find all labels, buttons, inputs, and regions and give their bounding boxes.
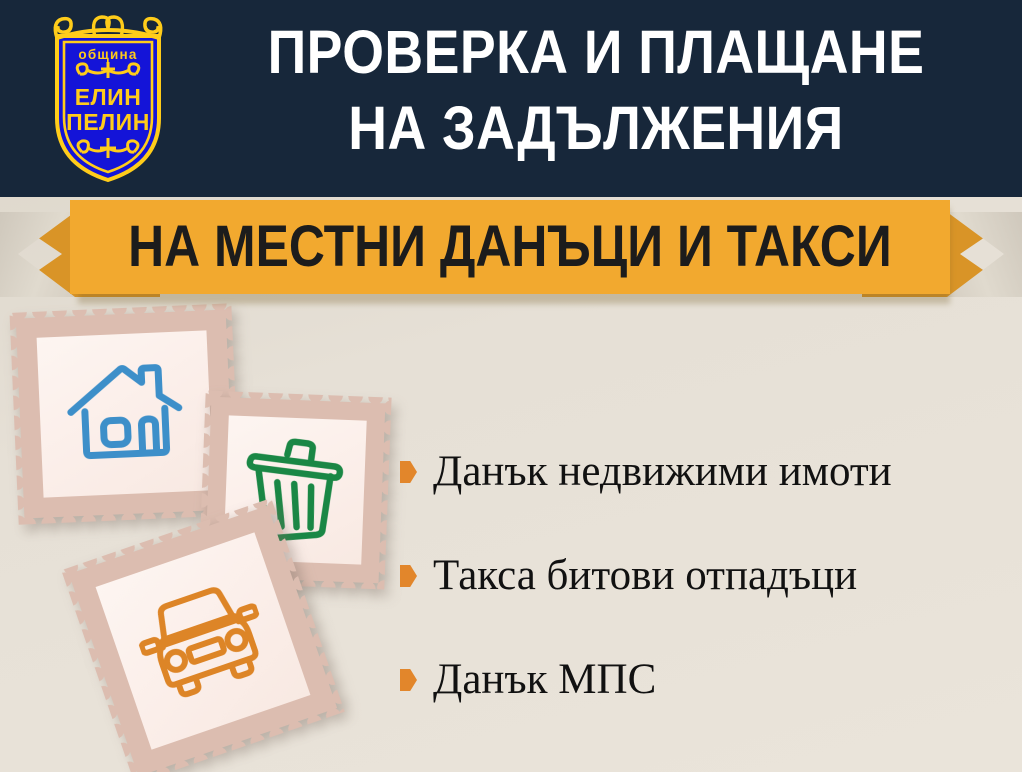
- arrow-bullet-icon: [400, 461, 417, 483]
- ribbon-banner: НА МЕСТНИ ДАНЪЦИ И ТАКСИ: [0, 196, 1022, 306]
- header-bar: община ЕЛИН ПЕЛИН: [0, 0, 1022, 197]
- list-item[interactable]: Такса битови отпадъци: [400, 524, 1020, 628]
- crest-svg: община ЕЛИН ПЕЛИН: [40, 12, 176, 184]
- poster-canvas: община ЕЛИН ПЕЛИН: [0, 0, 1022, 772]
- crest-label-line2: ПЕЛИН: [66, 109, 150, 135]
- house-icon: [37, 330, 214, 497]
- list-item-label: Такса битови отпадъци: [433, 551, 857, 601]
- tax-type-list: Данък недвижими имоти Такса битови отпад…: [400, 420, 1020, 732]
- list-item[interactable]: Данък МПС: [400, 628, 1020, 732]
- crest-label-line1: ЕЛИН: [75, 84, 142, 110]
- page-title: ПРОВЕРКА И ПЛАЩАНЕ НА ЗАДЪЛЖЕНИЯ: [235, 14, 957, 166]
- ribbon-panel: НА МЕСТНИ ДАНЪЦИ И ТАКСИ: [70, 200, 950, 294]
- stamp-paper: [37, 330, 214, 497]
- arrow-bullet-icon: [400, 565, 417, 587]
- crest-label-top: община: [78, 47, 137, 62]
- arrow-bullet-icon: [400, 669, 417, 691]
- ribbon-label: НА МЕСТНИ ДАНЪЦИ И ТАКСИ: [128, 218, 892, 276]
- coat-of-arms: община ЕЛИН ПЕЛИН: [40, 12, 176, 184]
- list-item-label: Данък МПС: [433, 655, 656, 705]
- list-item[interactable]: Данък недвижими имоти: [400, 420, 1020, 524]
- list-item-label: Данък недвижими имоти: [433, 447, 892, 497]
